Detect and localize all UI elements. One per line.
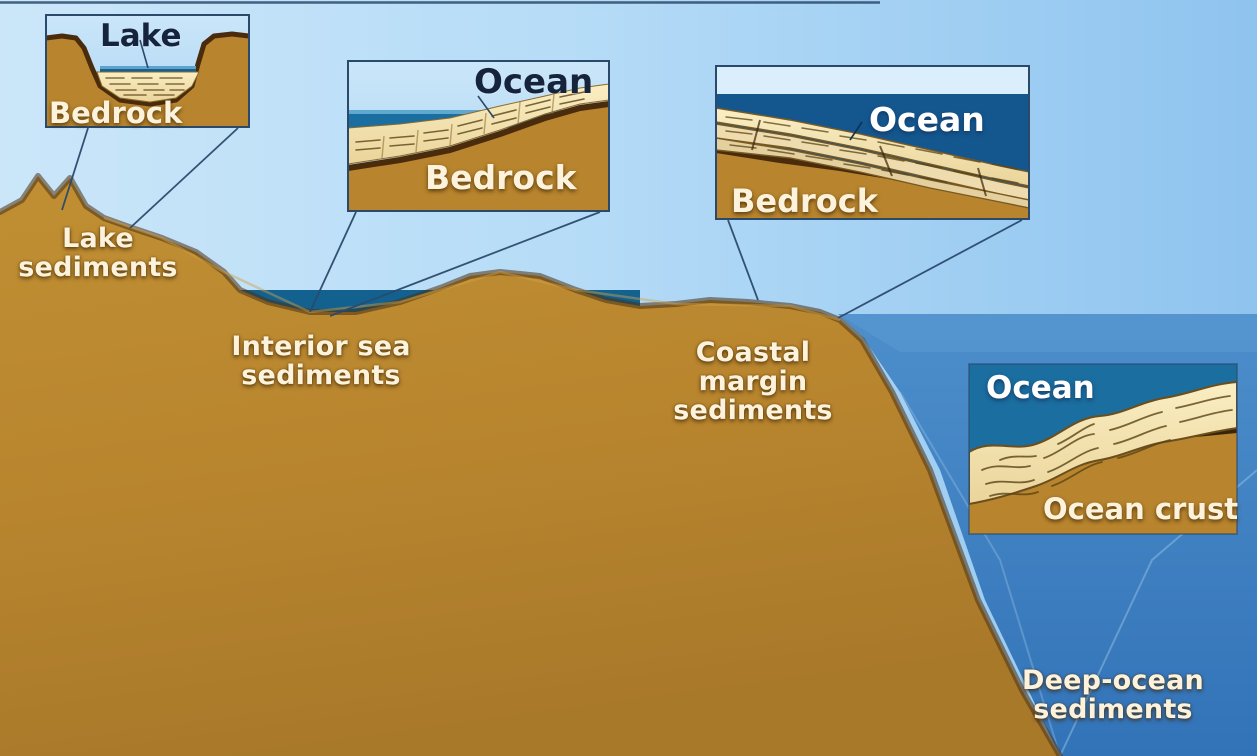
inset-interior-sea-graphic xyxy=(348,61,609,211)
inset-deep-ocean-graphic xyxy=(969,364,1237,534)
diagram-canvas: Lake sediments Interior sea sediments Co… xyxy=(0,0,1257,756)
ocean-facet-shade xyxy=(838,314,1257,352)
inset-lake-graphic xyxy=(46,15,249,127)
diagram-svg xyxy=(0,0,1257,756)
inset-coastal-graphic xyxy=(716,66,1029,219)
